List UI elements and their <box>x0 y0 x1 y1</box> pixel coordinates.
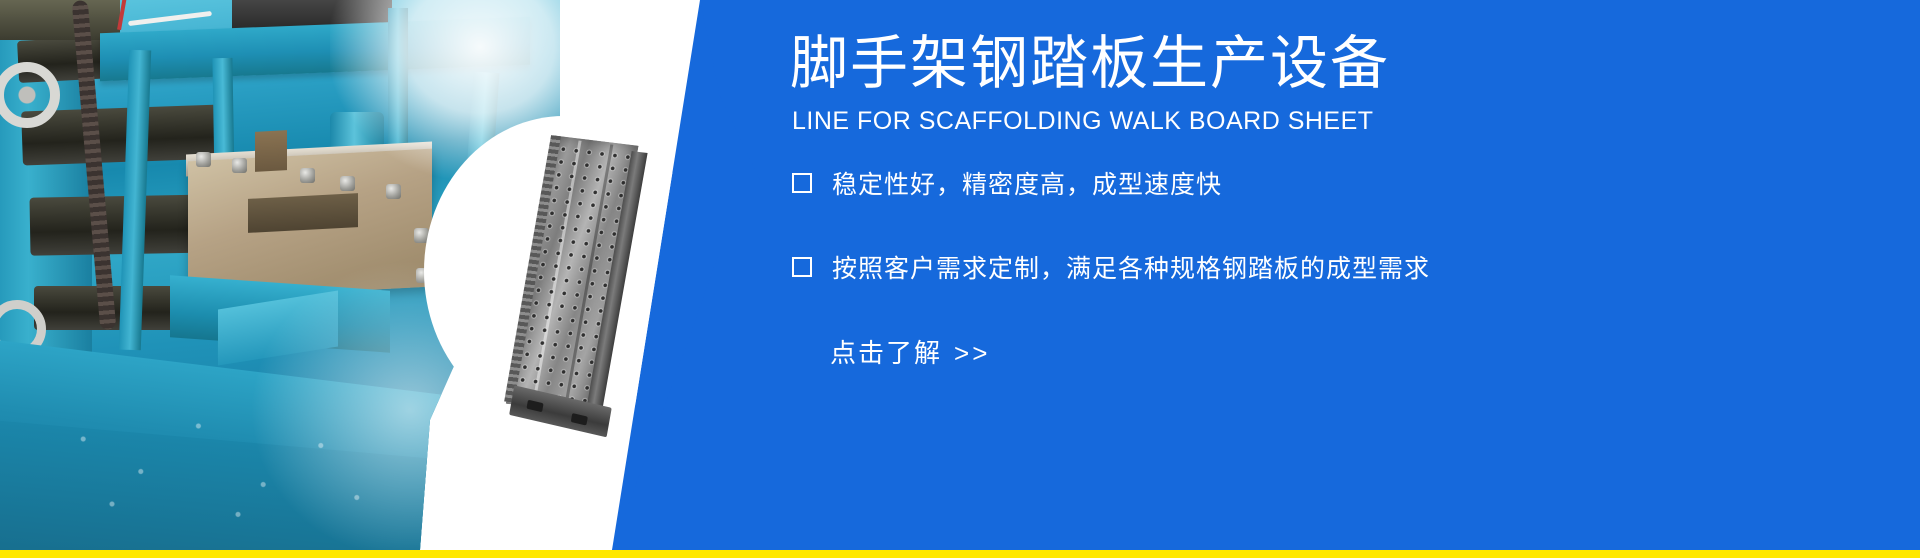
banner-subtitle: LINE FOR SCAFFOLDING WALK BOARD SHEET <box>792 107 1374 136</box>
feature-item-label: 稳定性好，精密度高，成型速度快 <box>832 165 1222 201</box>
machine-wire <box>128 11 212 26</box>
banner-title: 脚手架钢踏板生产设备 <box>790 32 1390 96</box>
product-hero-banner: 脚手架钢踏板生产设备 LINE FOR SCAFFOLDING WALK BOA… <box>0 0 1920 558</box>
feature-item: 按照客户需求定制，满足各种规格钢踏板的成型需求 <box>792 249 1892 285</box>
banner-copy: 脚手架钢踏板生产设备 LINE FOR SCAFFOLDING WALK BOA… <box>790 0 1920 550</box>
double-chevron-right-icon: >> <box>954 338 990 368</box>
machine-punch <box>255 130 287 172</box>
learn-more-link[interactable]: 点击了解>> <box>830 333 990 370</box>
feature-item-label: 按照客户需求定制，满足各种规格钢踏板的成型需求 <box>832 249 1430 285</box>
plank-end-slot <box>526 400 543 412</box>
square-outline-icon <box>792 257 812 277</box>
machine-bolt <box>386 184 401 199</box>
square-outline-icon <box>792 173 812 193</box>
feature-list: 稳定性好，精密度高，成型速度快 按照客户需求定制，满足各种规格钢踏板的成型需求 <box>792 165 1892 333</box>
machine-bolt <box>232 158 247 173</box>
bottom-accent-bar <box>0 550 1920 558</box>
machine-die-notch <box>248 193 358 233</box>
machine-bolt <box>300 168 315 183</box>
learn-more-label: 点击了解 <box>830 338 942 368</box>
machine-bolt <box>196 152 211 167</box>
plank-end-slot <box>571 413 588 425</box>
feature-item: 稳定性好，精密度高，成型速度快 <box>792 165 1892 201</box>
